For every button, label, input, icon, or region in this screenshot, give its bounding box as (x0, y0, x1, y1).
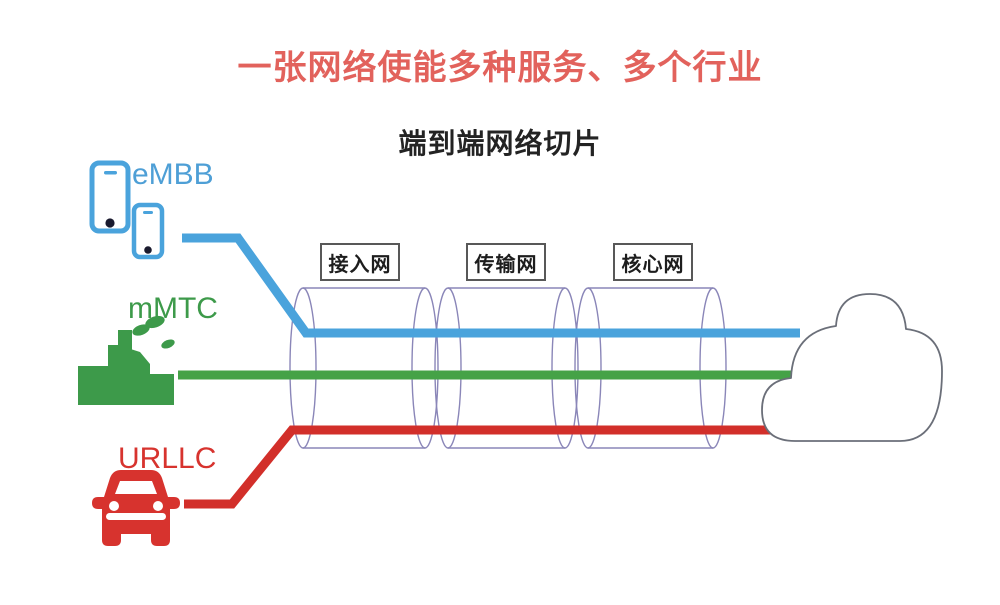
slice-cylinder-access (290, 288, 438, 448)
diagram-canvas: 一张网络使能多种服务、多个行业 端到端网络切片 eMBB mMTC URLLC … (0, 0, 1000, 605)
slice-cylinder-core (575, 288, 726, 448)
diagram-graphics (0, 0, 1000, 605)
cloud-shape (762, 294, 942, 441)
slice-cylinder-transport (435, 288, 578, 448)
car-icon (92, 470, 180, 546)
factory-icon (78, 314, 176, 405)
smartphone-icon-small (134, 205, 162, 257)
smartphone-icon-large (92, 163, 128, 231)
